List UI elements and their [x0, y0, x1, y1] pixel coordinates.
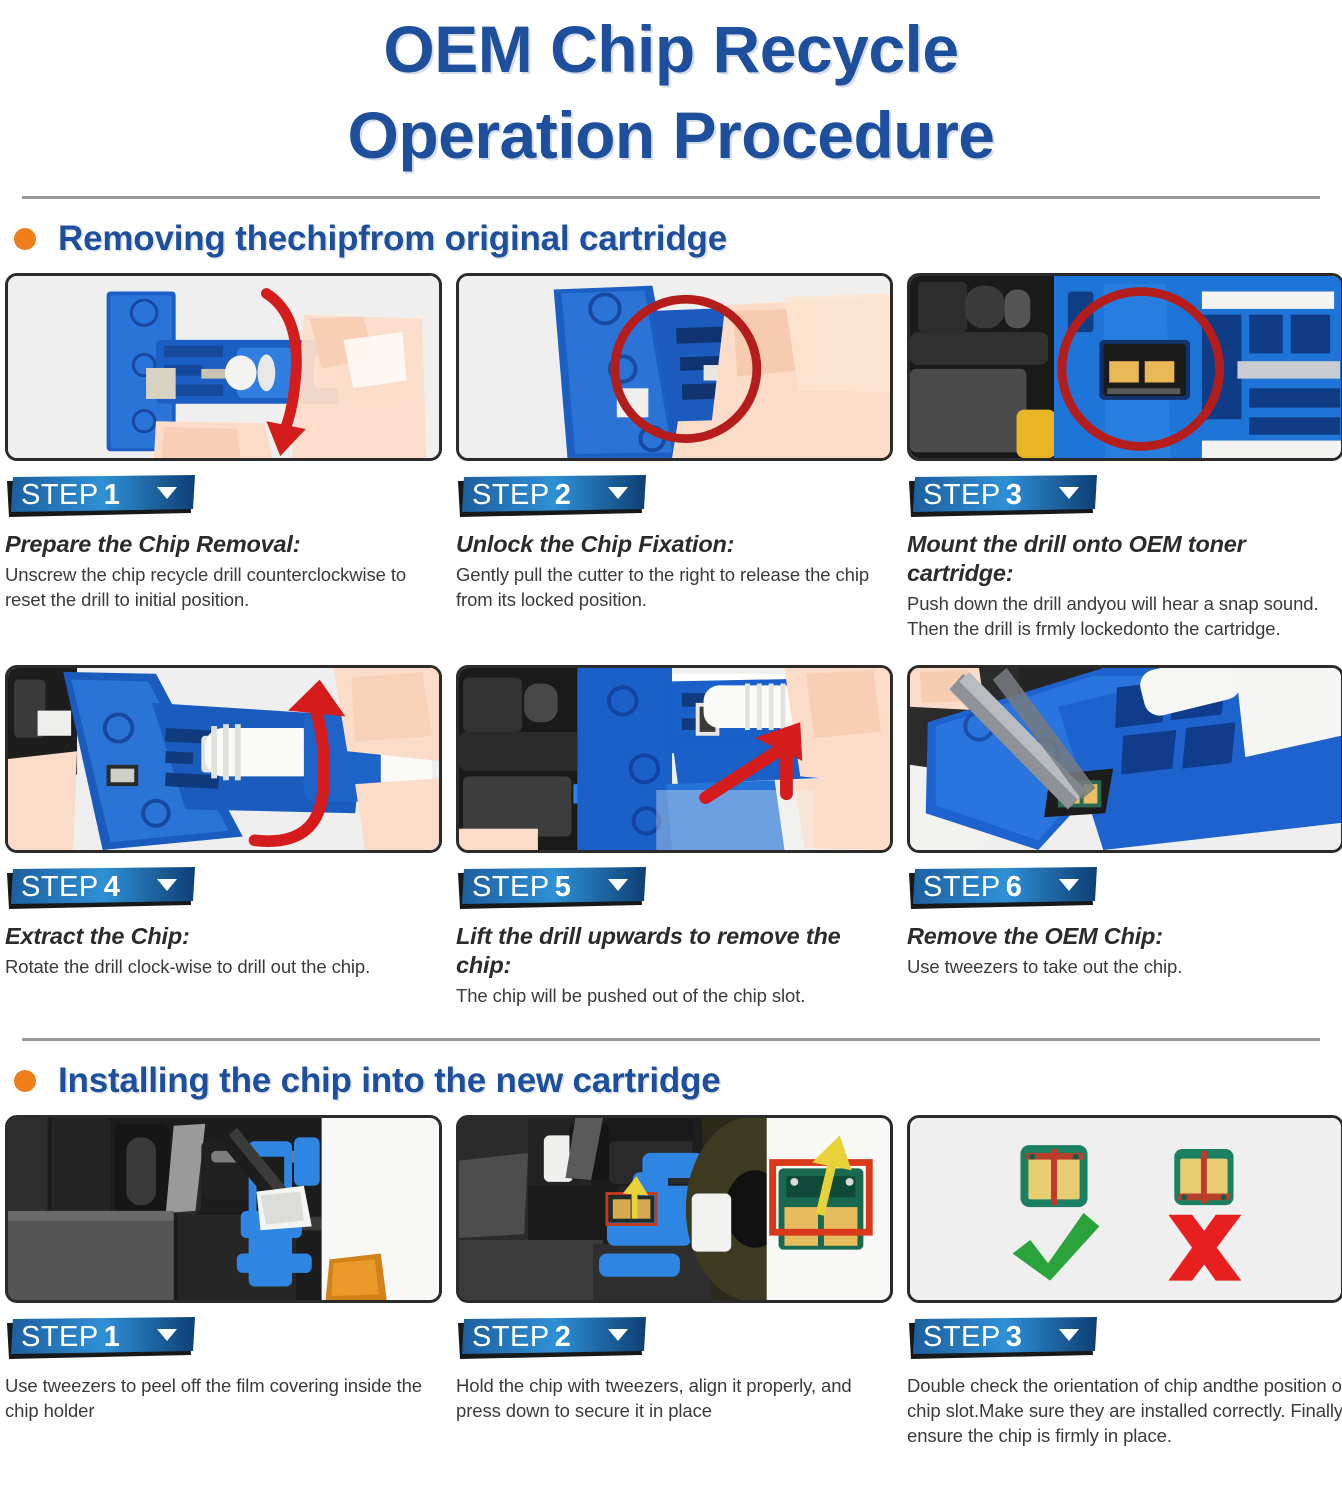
- install-card-1: STEP1 Use tweezers to peel off the film …: [5, 1115, 445, 1448]
- step-caption-title-6: Remove the OEM Chip:: [907, 922, 1342, 951]
- step-card-6: STEP6 Remove the OEM Chip: Use tweezers …: [907, 665, 1342, 1008]
- step-card-1: STEP1 Prepare the Chip Removal: Unscrew …: [5, 273, 445, 641]
- photo-step6-tweezers-remove: [907, 665, 1342, 853]
- step-caption-body-1: Unscrew the chip recycle drill countercl…: [5, 562, 445, 612]
- step-badge-3: STEP3: [907, 475, 1342, 519]
- install-badge-2: STEP2: [456, 1317, 896, 1361]
- photo-install2-align-chip: [456, 1115, 893, 1303]
- page-title-line-2: Operation Procedure: [0, 92, 1342, 178]
- page-title-line-1: OEM Chip Recycle: [0, 6, 1342, 92]
- step-grid-row-3: STEP1 Use tweezers to peel off the film …: [0, 1115, 1342, 1448]
- chip-wrong-icon: [1174, 1149, 1233, 1205]
- orange-dot-icon: [14, 228, 36, 250]
- section-title-text: Installing the chip into the new cartrid…: [58, 1061, 721, 1101]
- chip-correct-icon: [1020, 1145, 1087, 1207]
- step-caption-body-2: Gently pull the cutter to the right to r…: [456, 562, 896, 612]
- step-caption-title-5: Lift the drill upwards to remove the chi…: [456, 922, 896, 980]
- photo-install3-orientation-check: [907, 1115, 1342, 1303]
- photo-step1-unscrew-drill: [5, 273, 442, 461]
- step-caption-title-3: Mount the drill onto OEM toner cartridge…: [907, 530, 1342, 588]
- section-title-text: Removing thechipfrom original cartridge: [58, 219, 727, 259]
- install-caption-body-1: Use tweezers to peel off the film coveri…: [5, 1373, 445, 1423]
- install-caption-body-2: Hold the chip with tweezers, align it pr…: [456, 1373, 896, 1423]
- page-title: OEM Chip Recycle Operation Procedure: [0, 0, 1342, 178]
- step-badge-5: STEP5: [456, 867, 896, 911]
- step-caption-body-4: Rotate the drill clock-wise to drill out…: [5, 954, 445, 979]
- install-badge-3: STEP3: [907, 1317, 1342, 1361]
- step-caption-body-3: Push down the drill andyou will hear a s…: [907, 591, 1342, 641]
- section-heading-installing: Installing the chip into the new cartrid…: [0, 1041, 1342, 1111]
- orange-dot-icon: [14, 1070, 36, 1092]
- photo-step2-unlock-cutter: [456, 273, 893, 461]
- step-caption-title-4: Extract the Chip:: [5, 922, 445, 951]
- step-caption-title-2: Unlock the Chip Fixation:: [456, 530, 896, 559]
- install-card-3: STEP3 Double check the orientation of ch…: [907, 1115, 1342, 1448]
- step-card-5: STEP5 Lift the drill upwards to remove t…: [456, 665, 896, 1008]
- step-badge-1: STEP1: [5, 475, 445, 519]
- step-caption-title-1: Prepare the Chip Removal:: [5, 530, 445, 559]
- step-card-4: STEP4 Extract the Chip: Rotate the drill…: [5, 665, 445, 1008]
- section-heading-removing: Removing thechipfrom original cartridge: [0, 199, 1342, 269]
- step-badge-2: STEP2: [456, 475, 896, 519]
- step-grid-row-2: STEP4 Extract the Chip: Rotate the drill…: [0, 665, 1342, 1008]
- infographic-page: OEM Chip Recycle Operation Procedure Rem…: [0, 0, 1342, 1500]
- step-badge-4: STEP4: [5, 867, 445, 911]
- install-card-2: STEP2 Hold the chip with tweezers, align…: [456, 1115, 896, 1448]
- install-caption-body-3: Double check the orientation of chip and…: [907, 1373, 1342, 1448]
- step-card-3: STEP3 Mount the drill onto OEM toner car…: [907, 273, 1342, 641]
- photo-step4-rotate-drill: [5, 665, 442, 853]
- photo-install1-peel-film: [5, 1115, 442, 1303]
- install-badge-1: STEP1: [5, 1317, 445, 1361]
- step-badge-6: STEP6: [907, 867, 1342, 911]
- photo-step3-mount-drill: [907, 273, 1342, 461]
- photo-step5-lift-drill: [456, 665, 893, 853]
- step-card-2: STEP2 Unlock the Chip Fixation: Gently p…: [456, 273, 896, 641]
- step-caption-body-6: Use tweezers to take out the chip.: [907, 954, 1342, 979]
- step-caption-body-5: The chip will be pushed out of the chip …: [456, 983, 896, 1008]
- step-grid-row-1: STEP1 Prepare the Chip Removal: Unscrew …: [0, 273, 1342, 641]
